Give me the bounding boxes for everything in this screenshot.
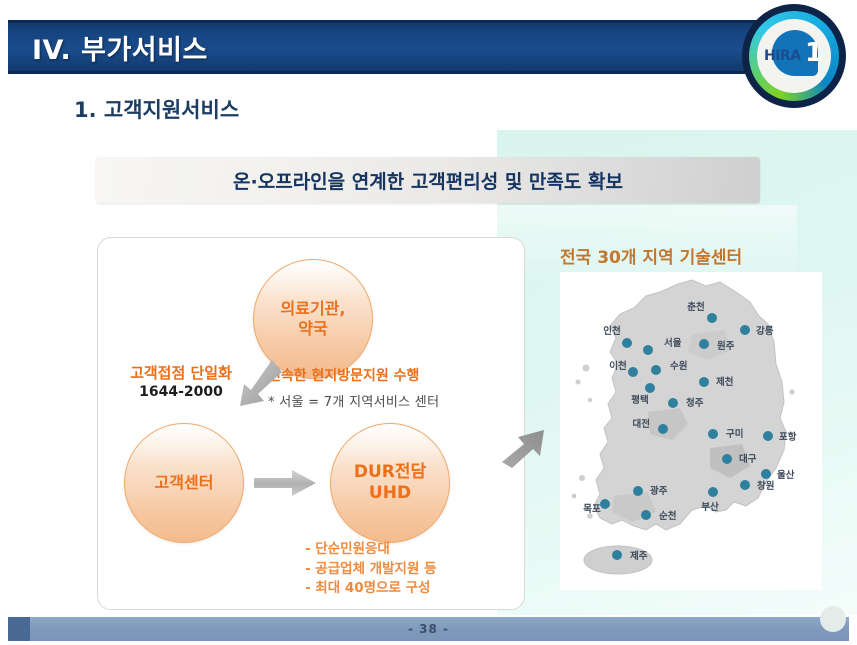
map-city-dot: [740, 480, 750, 490]
node-dur-line2: UHD: [369, 483, 411, 503]
map-city-label: 인천: [603, 326, 620, 337]
map-city-dot: [699, 377, 709, 387]
chapter-title: IV. 부가서비스: [32, 28, 208, 67]
onsite-support-heading: 신속한 현지방문지원 수행: [268, 365, 439, 385]
onsite-support-label: 신속한 현지방문지원 수행 * 서울 = 7개 지역서비스 센터: [268, 365, 439, 410]
map-city-dot: [641, 510, 651, 520]
map-city-label: 강릉: [756, 325, 774, 337]
footer-corner-circle: [820, 606, 846, 632]
map-city-label: 평택: [631, 394, 648, 406]
logo-brand-text: HIRA: [764, 48, 801, 64]
korea-map-svg: 춘천인천서울원주강릉이천수원제천평택청주대전구미포항대구울산광주창원부산목포순천…: [560, 272, 822, 590]
map-city-label: 포항: [779, 431, 797, 443]
map-city-dot: [622, 338, 632, 348]
map-city-dot: [761, 469, 771, 479]
dur-bullet-item-1: - 단순민원응대: [305, 540, 436, 560]
dur-bullet-list: - 단순민원응대 - 공급업체 개발지원 등 - 최대 40명으로 구성: [305, 540, 436, 599]
map-city-dot: [707, 313, 717, 323]
map-city-dot: [600, 499, 610, 509]
map-city-dot: [651, 365, 661, 375]
node-dur-uhd: DUR전담 UHD: [330, 423, 450, 543]
headline-banner-text: 온·오프라인을 연계한 고객편리성 및 만족도 확보: [233, 167, 623, 194]
node-dur-line1: DUR전담: [354, 462, 426, 482]
map-city-dot: [645, 383, 655, 393]
map-city-dot: [763, 431, 773, 441]
map-city-dot: [668, 398, 678, 408]
node-hospital-pharmacy-label: 의료기관, 약국: [281, 299, 346, 339]
map-city-label: 수원: [670, 360, 687, 372]
onsite-support-note: * 서울 = 7개 지역서비스 센터: [268, 391, 439, 410]
map-city-dot: [722, 454, 732, 464]
footer-accent-block: [8, 617, 30, 641]
headline-banner: 온·오프라인을 연계한 고객편리성 및 만족도 확보: [96, 157, 760, 203]
arrow-up-right-icon: [500, 418, 562, 470]
map-city-label: 창원: [757, 480, 774, 492]
node-hospital-line1: 의료기관,: [281, 299, 346, 318]
map-city-label: 부산: [701, 501, 719, 513]
map-city-label: 광주: [650, 485, 668, 497]
map-landmass: [572, 280, 795, 574]
logo-numeral: 1: [805, 38, 823, 68]
map-city-label: 제천: [716, 376, 733, 388]
map-city-label: 순천: [659, 511, 676, 522]
map-city-label: 울산: [777, 469, 795, 481]
map-city-label: 제주: [630, 550, 648, 562]
page-number: - 38 -: [408, 622, 449, 636]
map-city-dot: [628, 367, 638, 377]
map-city-dot: [633, 486, 643, 496]
slide-canvas: IV. 부가서비스 HIRA 1 1. 고객지원서비스 온·오프라인을 연계한 …: [0, 0, 857, 645]
map-city-label: 대구: [739, 453, 757, 465]
map-city-label: 목포: [583, 504, 601, 515]
dur-bullet-item-3: - 최대 40명으로 구성: [305, 579, 436, 599]
map-city-label: 구미: [726, 428, 743, 440]
map-city-label: 원주: [717, 340, 735, 352]
node-customer-center: 고객센터: [124, 423, 244, 543]
map-title: 전국 30개 지역 기술센터: [560, 243, 742, 268]
footer-bar: - 38 -: [8, 617, 849, 641]
korea-map-panel: 춘천인천서울원주강릉이천수원제천평택청주대전구미포항대구울산광주창원부산목포순천…: [560, 272, 822, 590]
map-city-dot: [740, 325, 750, 335]
map-city-dot: [643, 345, 653, 355]
map-city-label: 서울: [664, 337, 682, 349]
map-city-label: 춘천: [687, 301, 704, 313]
map-city-dot: [708, 487, 718, 497]
hira-logo: HIRA 1: [742, 4, 846, 108]
arrow-right-icon: [252, 468, 318, 498]
map-city-label: 대전: [633, 418, 650, 430]
node-dur-uhd-label: DUR전담 UHD: [354, 462, 426, 505]
node-hospital-line2: 약국: [298, 319, 327, 338]
map-city-label: 청주: [686, 397, 704, 409]
map-city-dot: [612, 550, 622, 560]
dur-bullet-item-2: - 공급업체 개발지원 등: [305, 560, 436, 580]
chapter-title-bar: IV. 부가서비스: [8, 20, 820, 74]
map-city-dot: [658, 424, 668, 434]
section-title: 1. 고객지원서비스: [74, 94, 239, 124]
node-customer-center-label: 고객센터: [155, 473, 214, 493]
map-city-label: 이천: [609, 360, 626, 372]
map-city-dot: [699, 339, 709, 349]
arrow-down-left-icon: [228, 356, 286, 414]
map-city-dot: [708, 429, 718, 439]
